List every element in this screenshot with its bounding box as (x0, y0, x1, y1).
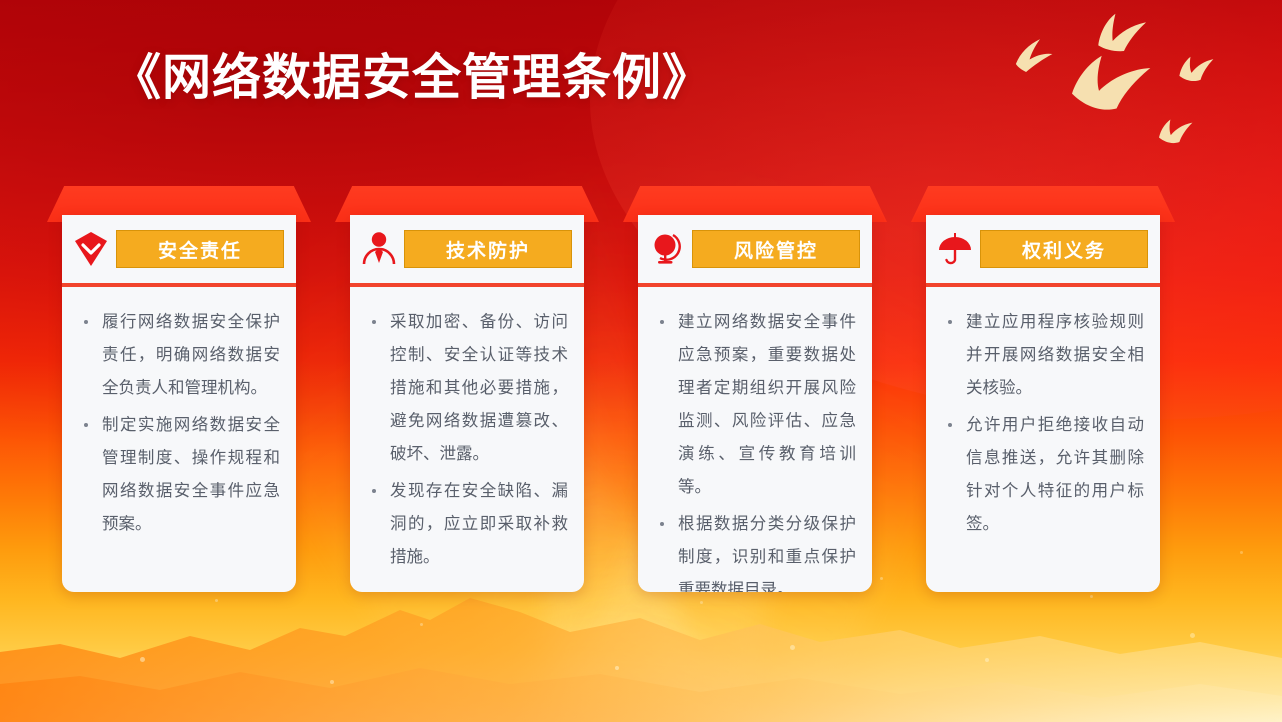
dove-icon (1177, 54, 1216, 83)
list-item: 建立网络数据安全事件应急预案，重要数据处理者定期组织开展风险监测、风险评估、应急… (648, 305, 856, 503)
cards-container: 安全责任 履行网络数据安全保护责任，明确网络数据安全负责人和管理机构。 制定实施… (47, 186, 1235, 592)
slide-root: 《网络数据安全管理条例》 安全责任 履行网络数据安全保护责任，明确网 (0, 0, 1282, 722)
card-bullet-list: 建立应用程序核验规则并开展网络数据安全相关核验。 允许用户拒绝接收自动信息推送，… (926, 283, 1160, 554)
person-protection-icon (358, 228, 400, 270)
card-body: 权利义务 建立应用程序核验规则并开展网络数据安全相关核验。 允许用户拒绝接收自动… (926, 215, 1160, 592)
list-item: 发现存在安全缺陷、漏洞的，应立即采取补救措施。 (360, 474, 568, 573)
doves-decoration-group (982, 0, 1282, 190)
card-safety-responsibility[interactable]: 安全责任 履行网络数据安全保护责任，明确网络数据安全负责人和管理机构。 制定实施… (47, 186, 311, 592)
card-bullet-list: 建立网络数据安全事件应急预案，重要数据处理者定期组织开展风险监测、风险评估、应急… (638, 283, 872, 592)
list-item: 采取加密、备份、访问控制、安全认证等技术措施和其他必要措施，避免网络数据遭篡改、… (360, 305, 568, 470)
list-item: 制定实施网络数据安全管理制度、操作规程和网络数据安全事件应急预案。 (72, 408, 280, 540)
list-item: 建立应用程序核验规则并开展网络数据安全相关核验。 (936, 305, 1144, 404)
card-bullet-list: 履行网络数据安全保护责任，明确网络数据安全负责人和管理机构。 制定实施网络数据安… (62, 283, 296, 554)
dove-icon (1072, 56, 1150, 110)
card-badge-label: 安全责任 (116, 230, 284, 268)
card-header: 权利义务 (926, 215, 1160, 283)
dove-icon (1011, 37, 1055, 74)
card-header: 技术防护 (350, 215, 584, 283)
card-divider (638, 283, 872, 287)
dove-icon (1157, 117, 1194, 144)
card-body: 安全责任 履行网络数据安全保护责任，明确网络数据安全负责人和管理机构。 制定实施… (62, 215, 296, 592)
card-badge-label: 权利义务 (980, 230, 1148, 268)
card-divider (350, 283, 584, 287)
card-risk-control[interactable]: 风险管控 建立网络数据安全事件应急预案，重要数据处理者定期组织开展风险监测、风险… (623, 186, 887, 592)
list-item: 允许用户拒绝接收自动信息推送，允许其删除针对个人特征的用户标签。 (936, 408, 1144, 540)
card-technical-protection[interactable]: 技术防护 采取加密、备份、访问控制、安全认证等技术措施和其他必要措施，避免网络数… (335, 186, 599, 592)
globe-icon (646, 228, 688, 270)
card-badge-label: 技术防护 (404, 230, 572, 268)
card-divider (926, 283, 1160, 287)
card-bullet-list: 采取加密、备份、访问控制、安全认证等技术措施和其他必要措施，避免网络数据遭篡改、… (350, 283, 584, 587)
card-divider (62, 283, 296, 287)
list-item: 履行网络数据安全保护责任，明确网络数据安全负责人和管理机构。 (72, 305, 280, 404)
list-item: 根据数据分类分级保护制度，识别和重点保护重要数据目录。 (648, 507, 856, 592)
card-header: 安全责任 (62, 215, 296, 283)
card-badge-label: 风险管控 (692, 230, 860, 268)
shield-check-icon (70, 228, 112, 270)
dove-icon (1098, 12, 1147, 55)
card-rights-obligations[interactable]: 权利义务 建立应用程序核验规则并开展网络数据安全相关核验。 允许用户拒绝接收自动… (911, 186, 1175, 592)
card-body: 风险管控 建立网络数据安全事件应急预案，重要数据处理者定期组织开展风险监测、风险… (638, 215, 872, 592)
umbrella-icon (934, 228, 976, 270)
card-body: 技术防护 采取加密、备份、访问控制、安全认证等技术措施和其他必要措施，避免网络数… (350, 215, 584, 592)
page-title: 《网络数据安全管理条例》 (112, 38, 712, 109)
card-header: 风险管控 (638, 215, 872, 283)
